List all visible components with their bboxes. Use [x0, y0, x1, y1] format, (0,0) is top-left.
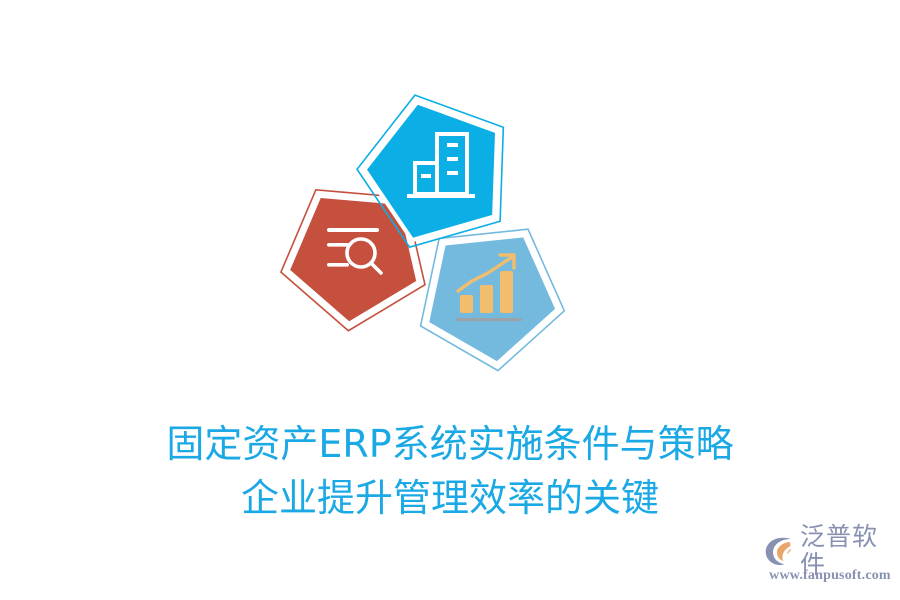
pentagon-body [422, 219, 571, 373]
poster-title: 固定资产ERP系统实施条件与策略 企业提升管理效率的关键 [0, 418, 900, 524]
poster-canvas: 固定资产ERP系统实施条件与策略 企业提升管理效率的关键 泛普软件 www.fa… [0, 0, 900, 600]
title-line-2: 企业提升管理效率的关键 [0, 472, 900, 524]
brand-watermark: 泛普软件 www.fanpusoft.com [764, 534, 896, 592]
fanpu-c-arc-logo-icon [764, 535, 798, 567]
brand-url: www.fanpusoft.com [769, 567, 891, 584]
hero-pentagon-cluster [255, 80, 585, 380]
title-line-1: 固定资产ERP系统实施条件与策略 [0, 418, 900, 470]
pentagon-growth-chart [415, 211, 580, 381]
brand-lockup: 泛普软件 [764, 534, 896, 568]
